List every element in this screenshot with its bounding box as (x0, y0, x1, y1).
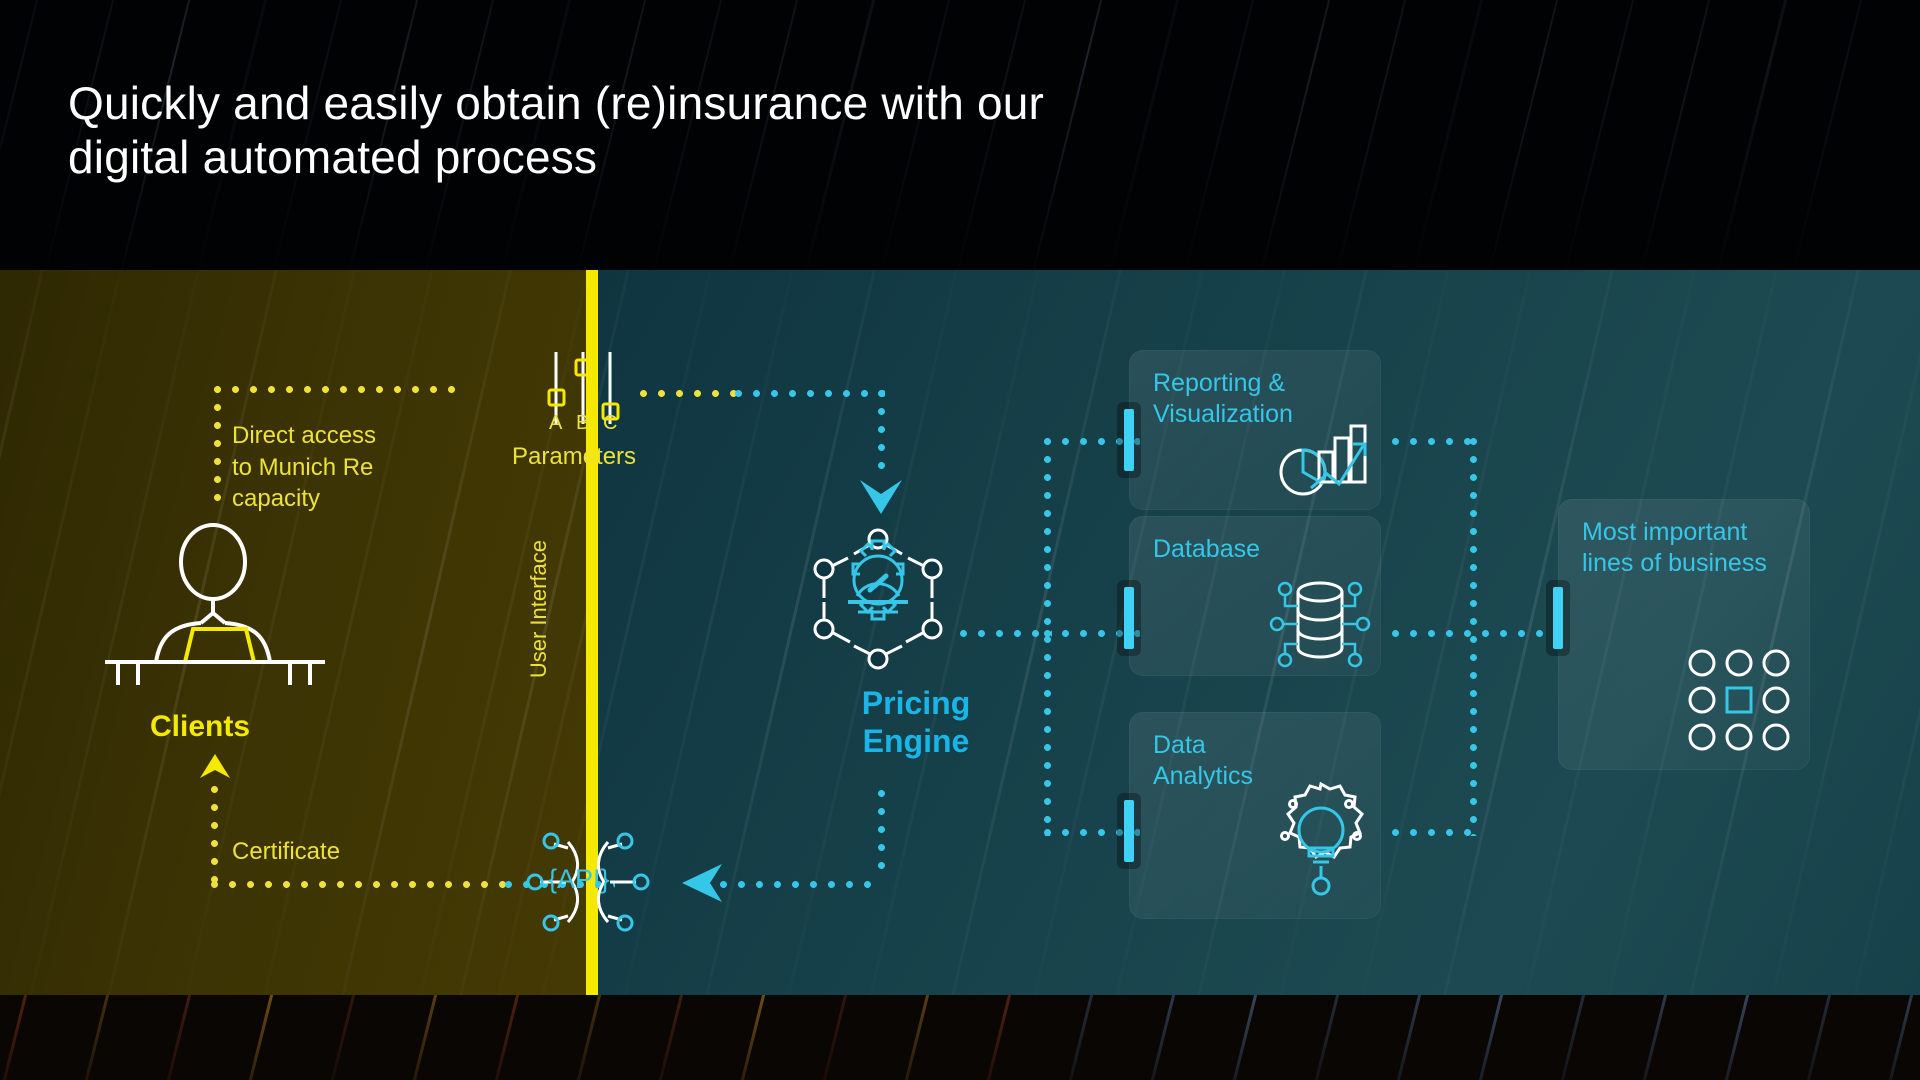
certificate-label: Certificate (232, 838, 340, 866)
dotted-line-to-lob (1392, 630, 1570, 637)
dotted-merge-analytics (1392, 829, 1478, 836)
dotted-line-params-2 (735, 390, 885, 397)
slider-label-b: B (576, 412, 589, 435)
api-label: {API} (548, 864, 610, 895)
card-title: Reporting & Visualization (1153, 368, 1293, 431)
header-band: Quickly and easily obtain (re)insurance … (0, 0, 1920, 270)
background-streaks-bottom (0, 995, 1920, 1080)
slider-label-a: A (549, 412, 562, 435)
slide-canvas: Quickly and easily obtain (re)insurance … (0, 0, 1920, 1080)
card-database[interactable]: Database (1129, 516, 1381, 676)
connector-database (1124, 587, 1134, 649)
person-at-desk-icon (100, 525, 330, 685)
card-reporting-visualization[interactable]: Reporting & Visualization (1129, 350, 1381, 510)
card-data-analytics[interactable]: Data Analytics (1129, 712, 1381, 919)
connector-analytics (1124, 800, 1134, 862)
dotted-line-certificate-vertical (211, 786, 218, 888)
dotted-line-engine-to-bus (960, 630, 1052, 637)
footer-band (0, 995, 1920, 1080)
card-title: Database (1153, 534, 1260, 565)
clients-label: Clients (150, 710, 250, 744)
dotted-merge-reporting (1392, 438, 1478, 445)
arrow-left-icon (680, 862, 726, 904)
direct-access-label: Direct access to Munich Re capacity (232, 420, 376, 515)
grid-circles-square-icon (1686, 647, 1792, 747)
lightbulb-gear-icon (1271, 778, 1371, 898)
page-title: Quickly and easily obtain (re)insurance … (68, 76, 1318, 185)
card-lines-of-business[interactable]: Most important lines of business (1558, 499, 1810, 770)
dotted-line-direct-horizontal (214, 386, 466, 393)
pricing-engine-label: Pricing Engine (816, 685, 1016, 761)
gear-gauge-network-icon (810, 528, 946, 670)
dotted-line-certificate-horizontal (211, 881, 511, 888)
arrow-down-icon (856, 478, 906, 518)
dotted-bus-vertical (1044, 438, 1051, 836)
bar-chart-pie-trend-icon (1277, 422, 1369, 498)
card-title: Most important lines of business (1582, 517, 1767, 580)
dotted-bus-right-vertical (1470, 438, 1477, 836)
connector-reporting (1124, 409, 1134, 471)
arrow-up-icon (198, 752, 232, 786)
database-cylinder-network-icon (1271, 576, 1369, 664)
dotted-return-horizontal (720, 881, 882, 888)
connector-lines-of-business (1553, 587, 1563, 649)
user-interface-label: User Interface (526, 540, 552, 678)
card-title: Data Analytics (1153, 730, 1253, 793)
dotted-line-direct-vertical (214, 386, 221, 502)
dotted-line-params-1 (640, 390, 740, 397)
dotted-line-params-3 (878, 390, 885, 480)
parameters-label: Parameters (512, 443, 636, 471)
dotted-return-vertical (878, 790, 885, 880)
slider-label-c: C (603, 412, 617, 435)
